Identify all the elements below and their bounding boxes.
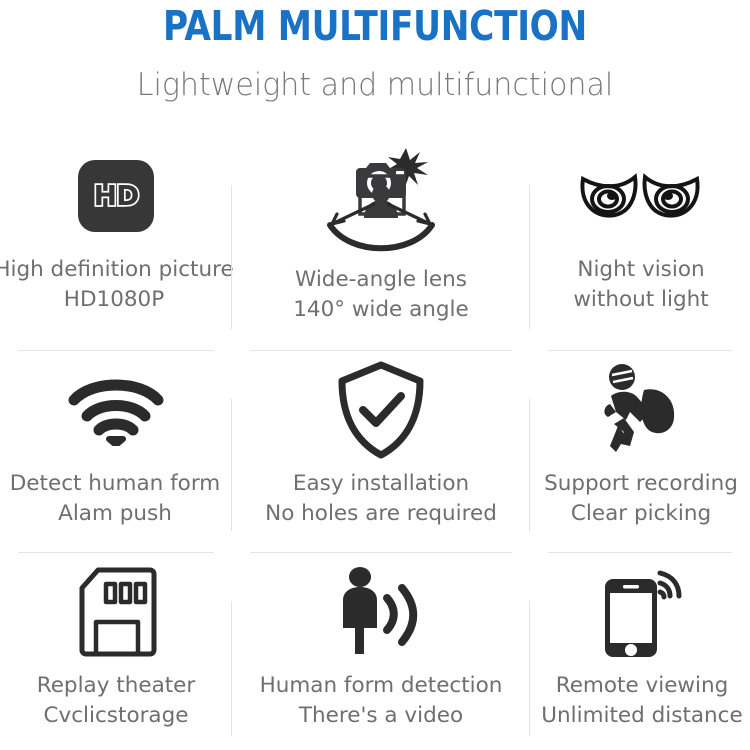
feature-label-line2: Alam push: [10, 499, 221, 529]
feature-label-line1: Replay theater: [37, 673, 196, 698]
feature-cell-detect-human-form: Detect human form Alam push: [0, 351, 232, 553]
feature-label: Support recording Clear picking: [544, 469, 738, 529]
feature-label: Replay theater Cvclicstorage: [37, 671, 196, 731]
night-vision-eyes-icon: [575, 137, 705, 255]
feature-label: Easy installation No holes are required: [265, 469, 497, 529]
feature-infographic: PALM MULTIFUNCTION Lightweight and multi…: [0, 0, 750, 750]
header: PALM MULTIFUNCTION Lightweight and multi…: [0, 0, 750, 104]
feature-label-line2: Cvclicstorage: [37, 701, 196, 731]
smartphone-signal-icon: [597, 553, 683, 671]
feature-cell-easy-installation: Easy installation No holes are required: [232, 351, 530, 553]
feature-label: Detect human form Alam push: [10, 469, 221, 529]
feature-cell-high-definition: HD High definition picture HD1080P: [0, 137, 232, 351]
feature-cell-wide-angle: Wide-angle lens 140° wide angle: [232, 137, 530, 351]
feature-cell-support-recording: Support recording Clear picking: [530, 351, 750, 553]
sd-card-icon: [74, 553, 158, 671]
feature-cell-replay-theater: Replay theater Cvclicstorage: [0, 553, 232, 750]
feature-label-line1: Night vision: [577, 257, 704, 282]
feature-label-line2: HD1080P: [0, 285, 234, 315]
feature-label-line1: Human form detection: [260, 673, 503, 698]
view-arc-icon: [330, 225, 432, 248]
feature-label-line1: Support recording: [544, 471, 738, 496]
feature-label-line2: without light: [573, 285, 708, 315]
feature-label: Human form detection There's a video: [260, 671, 503, 731]
feature-label-line1: Detect human form: [10, 471, 221, 496]
wifi-signal-icon: [68, 351, 164, 469]
phone-icon: [605, 579, 657, 657]
feature-label: Remote viewing Unlimited distance: [541, 671, 742, 731]
feature-label-line2: There's a video: [260, 701, 503, 731]
page-title: PALM MULTIFUNCTION: [26, 2, 724, 50]
feature-label-line2: No holes are required: [265, 499, 497, 529]
person-motion-waves-icon: [329, 553, 433, 671]
feature-label: Night vision without light: [573, 255, 708, 315]
person-icon: [343, 567, 377, 654]
feature-label-line2: Unlimited distance: [541, 701, 742, 731]
feature-label: High definition picture HD1080P: [0, 255, 234, 315]
signal-waves-icon: [660, 573, 679, 597]
feature-label-line2: 140° wide angle: [293, 295, 469, 325]
feature-label-line1: Remote viewing: [556, 673, 729, 698]
feature-label-line1: Wide-angle lens: [295, 267, 467, 292]
signal-waves-icon: [387, 588, 413, 642]
shield-check-icon: [335, 351, 427, 469]
feature-label-line1: High definition picture: [0, 257, 234, 282]
hd-label: HD: [94, 179, 139, 212]
feature-label-line1: Easy installation: [293, 471, 469, 496]
feature-cell-remote-viewing: Remote viewing Unlimited distance: [530, 553, 750, 750]
thief-with-sack-icon: [594, 351, 686, 469]
feature-grid: HD High definition picture HD1080P: [0, 137, 750, 750]
feature-cell-night-vision: Night vision without light: [530, 137, 750, 351]
feature-label-line2: Clear picking: [544, 499, 738, 529]
hd-glyph: HD: [87, 179, 145, 213]
hd-badge-icon: HD: [78, 137, 154, 255]
feature-cell-human-form-detection: Human form detection There's a video: [232, 553, 530, 750]
page-subtitle: Lightweight and multifunctional: [11, 66, 739, 104]
feature-label: Wide-angle lens 140° wide angle: [293, 265, 469, 325]
wide-angle-camera-icon: [310, 137, 452, 265]
